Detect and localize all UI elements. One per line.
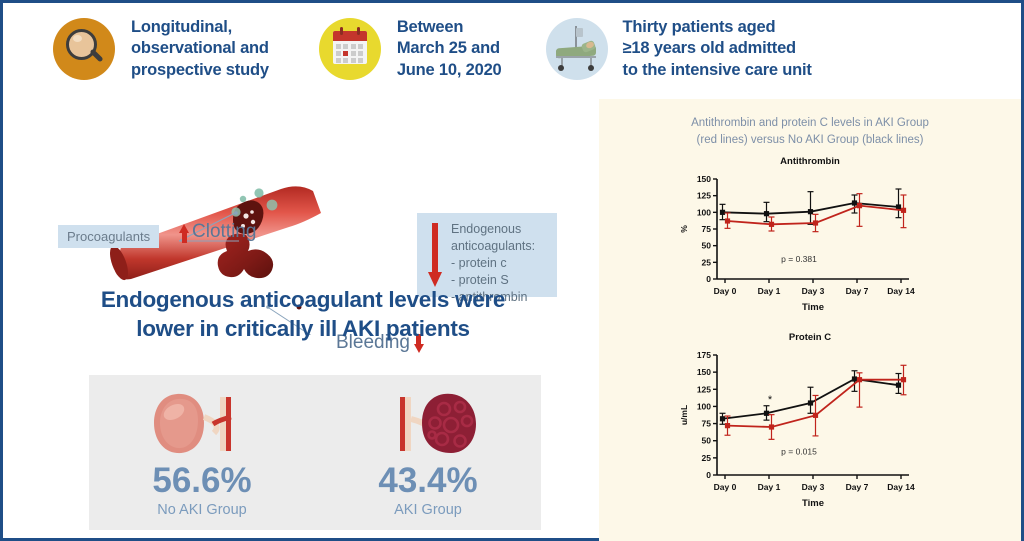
kidney-stats-panel: 56.6% No AKI Group 43.4% <box>89 375 541 530</box>
down-arrow-icon <box>428 223 441 289</box>
svg-text:Day 3: Day 3 <box>802 482 825 492</box>
chart-protein-c-title: Protein C <box>599 332 1021 343</box>
svg-text:Day 7: Day 7 <box>846 482 869 492</box>
svg-text:Day 3: Day 3 <box>802 286 825 296</box>
svg-text:Time: Time <box>802 302 824 313</box>
stat-aki-group: 43.4% AKI Group <box>315 375 541 530</box>
svg-text:50: 50 <box>702 241 712 251</box>
chart-protein-c-plot: 0255075100125150175u/mLDay 0Day 1Day 3Da… <box>599 343 1021 519</box>
svg-text:Time: Time <box>802 498 824 509</box>
stat-no-aki-caption: No AKI Group <box>157 502 246 518</box>
header-item-study-design-label: Longitudinal, observational and prospect… <box>131 17 269 80</box>
chart-panel: Antithrombin and protein C levels in AKI… <box>599 99 1021 541</box>
header-item-dates: Between March 25 and June 10, 2020 <box>319 17 502 80</box>
chart-antithrombin-plot: 0255075100125150%Day 0Day 1Day 3Day 7Day… <box>599 167 1021 323</box>
svg-text:150: 150 <box>697 367 711 377</box>
header-item-patients-label: Thirty patients aged ≥18 years old admit… <box>623 17 812 80</box>
clotting-annotation: Clotting <box>179 221 256 243</box>
svg-text:100: 100 <box>697 208 711 218</box>
svg-text:25: 25 <box>702 258 712 268</box>
chart-antithrombin: Antithrombin 0255075100125150%Day 0Day 1… <box>599 156 1021 328</box>
svg-text:75: 75 <box>702 224 712 234</box>
stat-no-aki-group: 56.6% No AKI Group <box>89 375 315 530</box>
main-headline: Endogenous anticoagulant levels were low… <box>33 285 573 344</box>
down-arrow-icon <box>414 344 424 353</box>
svg-text:*: * <box>768 394 773 406</box>
chart-protein-c: Protein C 0255075100125150175u/mLDay 0Da… <box>599 332 1021 522</box>
healthy-kidney-icon <box>146 387 258 459</box>
header-item-dates-label: Between March 25 and June 10, 2020 <box>397 17 502 80</box>
hospital-bed-icon <box>546 18 608 80</box>
svg-text:u/mL: u/mL <box>679 405 689 425</box>
svg-text:75: 75 <box>702 419 712 429</box>
svg-text:0: 0 <box>706 470 711 480</box>
svg-text:Day 7: Day 7 <box>846 286 869 296</box>
svg-text:p = 0.015: p = 0.015 <box>781 447 817 457</box>
svg-text:125: 125 <box>697 191 711 201</box>
svg-text:25: 25 <box>702 453 712 463</box>
stat-aki-caption: AKI Group <box>394 502 462 518</box>
up-arrow-icon <box>179 224 189 233</box>
header-bar: Longitudinal, observational and prospect… <box>3 3 1021 95</box>
header-item-patients: Thirty patients aged ≥18 years old admit… <box>546 17 812 80</box>
calendar-icon <box>319 18 381 80</box>
svg-text:150: 150 <box>697 174 711 184</box>
magnifier-icon <box>53 18 115 80</box>
chart-panel-title: Antithrombin and protein C levels in AKI… <box>599 99 1021 148</box>
svg-text:Day 14: Day 14 <box>887 482 915 492</box>
svg-text:100: 100 <box>697 402 711 412</box>
clotting-label: Clotting <box>192 221 256 243</box>
svg-text:175: 175 <box>697 350 711 360</box>
svg-text:Day 1: Day 1 <box>758 482 781 492</box>
svg-text:Day 1: Day 1 <box>758 286 781 296</box>
infographic-poster: Longitudinal, observational and prospect… <box>0 0 1024 541</box>
svg-text:Day 14: Day 14 <box>887 286 915 296</box>
svg-text:50: 50 <box>702 436 712 446</box>
chart-antithrombin-title: Antithrombin <box>599 156 1021 167</box>
stat-aki-percent: 43.4% <box>378 463 477 498</box>
svg-text:Day 0: Day 0 <box>714 286 737 296</box>
damaged-kidney-icon <box>372 387 484 459</box>
svg-text:p = 0.381: p = 0.381 <box>781 254 817 264</box>
svg-text:Day 0: Day 0 <box>714 482 737 492</box>
svg-text:0: 0 <box>706 274 711 284</box>
stat-no-aki-percent: 56.6% <box>152 463 251 498</box>
header-item-study-design: Longitudinal, observational and prospect… <box>53 17 269 80</box>
svg-text:125: 125 <box>697 385 711 395</box>
svg-text:%: % <box>679 225 689 233</box>
procoagulants-label: Procoagulants <box>58 225 159 248</box>
